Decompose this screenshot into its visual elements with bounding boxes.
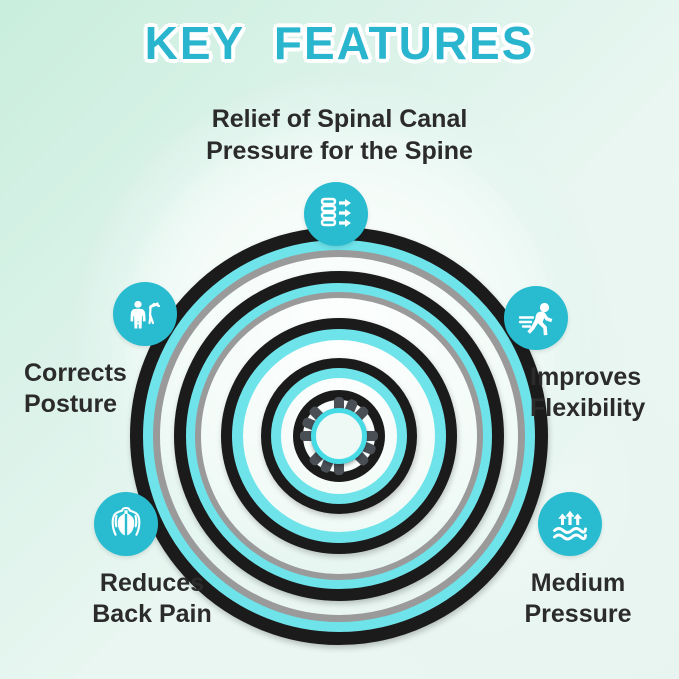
cog-hub: [300, 397, 378, 475]
subtitle-line-2: Pressure for the Spine: [0, 136, 679, 168]
pressure-waves-icon: [548, 502, 592, 546]
subtitle-line-1: Relief of Spinal Canal: [0, 104, 679, 136]
feature-label-medium-pressure: Medium Pressure: [440, 568, 650, 630]
page-title: KEY FEATURES: [0, 16, 679, 70]
feature-reduces-back-pain[interactable]: Reduces Back Pain: [48, 492, 248, 630]
running-person-icon: [514, 296, 558, 340]
back-muscles-icon: [103, 501, 149, 547]
feature-medium-pressure[interactable]: Medium Pressure: [440, 492, 650, 630]
hub-center-ring: [311, 408, 367, 464]
feature-label-corrects-posture: Corrects Posture: [16, 358, 206, 420]
spine-arrows-icon: [314, 192, 358, 236]
running-person-badge[interactable]: [504, 286, 568, 350]
feature-spinal-pressure[interactable]: [304, 182, 368, 246]
back-muscles-badge[interactable]: [94, 492, 158, 556]
posture-back-badge[interactable]: [113, 282, 177, 346]
key-features-poster: KEY FEATURES Relief of Spinal Canal Pres…: [0, 0, 679, 679]
subtitle: Relief of Spinal Canal Pressure for the …: [0, 104, 679, 167]
feature-improves-flexibility[interactable]: Improves Flexibility: [478, 286, 674, 424]
posture-back-icon: [123, 292, 167, 336]
feature-label-reduces-back-pain: Reduces Back Pain: [48, 568, 248, 630]
feature-corrects-posture[interactable]: Corrects Posture: [16, 282, 206, 420]
pressure-waves-badge[interactable]: [538, 492, 602, 556]
spine-arrows-badge[interactable]: [304, 182, 368, 246]
feature-label-improves-flexibility: Improves Flexibility: [478, 362, 674, 424]
